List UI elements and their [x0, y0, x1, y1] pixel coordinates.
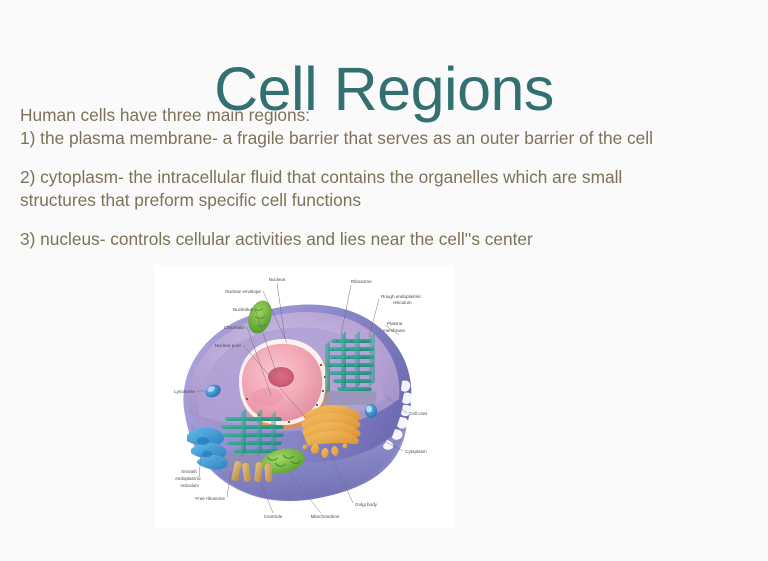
label-nucleus: Nucleus — [269, 277, 286, 282]
label-rough-er-line1: Rough endoplasmic — [381, 294, 422, 299]
label-smooth-er-line2: endoplasmic — [175, 476, 201, 481]
label-mitochondrion: Mitochondrion — [311, 514, 340, 519]
paragraph-nucleus: 3) nucleus- controls cellular activities… — [20, 228, 756, 251]
label-nuclear-pore: Nuclear pore — [215, 343, 242, 348]
nucleolus — [268, 367, 294, 387]
animal-cell-diagram-image: Nucleus Nuclear envelope Nucleolus Chrom… — [155, 265, 455, 528]
slide-body-text: Human cells have three main regions: 1) … — [20, 104, 756, 251]
label-lysosome: Lysosome — [174, 389, 195, 394]
rough-er-shadow — [324, 391, 377, 405]
paragraph-cytoplasm: 2) cytoplasm- the intracellular fluid th… — [20, 166, 756, 212]
label-smooth-er-line3: reticulum — [180, 483, 199, 488]
label-golgi-body: Golgi body — [355, 502, 378, 507]
label-smooth-er-line1: Smooth — [181, 469, 197, 474]
label-plasma-membrane-line2: membrane — [383, 328, 405, 333]
label-centriole: Centriole — [264, 514, 283, 519]
paragraph-intro: Human cells have three main regions: 1) … — [20, 104, 756, 150]
body-line-plasma-membrane: 1) the plasma membrane- a fragile barrie… — [20, 127, 756, 150]
label-plasma-membrane-line1: Plasma — [387, 321, 403, 326]
body-line-nucleus: 3) nucleus- controls cellular activities… — [20, 228, 756, 251]
body-line-cytoplasm-1: 2) cytoplasm- the intracellular fluid th… — [20, 166, 756, 189]
body-line-intro: Human cells have three main regions: — [20, 104, 756, 127]
label-rough-er-line2: reticulum — [393, 300, 412, 305]
label-nuclear-envelope: Nuclear envelope — [225, 289, 261, 294]
label-nucleolus: Nucleolus — [233, 307, 254, 312]
body-line-cytoplasm-2: structures that preform specific cell fu… — [20, 189, 756, 212]
label-chromatin: Chromatin — [224, 325, 246, 330]
secretory-vesicle — [365, 404, 377, 418]
slide-canvas: Cell Regions Human cells have three main… — [0, 0, 768, 561]
label-ribosome: Ribosome — [351, 279, 372, 284]
label-cytoplasm: Cytoplasm — [405, 449, 427, 454]
chromatin-patch — [251, 388, 283, 406]
label-cell-coat: Cell coat — [409, 411, 428, 416]
label-free-ribosome: Free ribosome — [195, 496, 225, 501]
cell-diagram-svg: Nucleus Nuclear envelope Nucleolus Chrom… — [155, 265, 455, 528]
